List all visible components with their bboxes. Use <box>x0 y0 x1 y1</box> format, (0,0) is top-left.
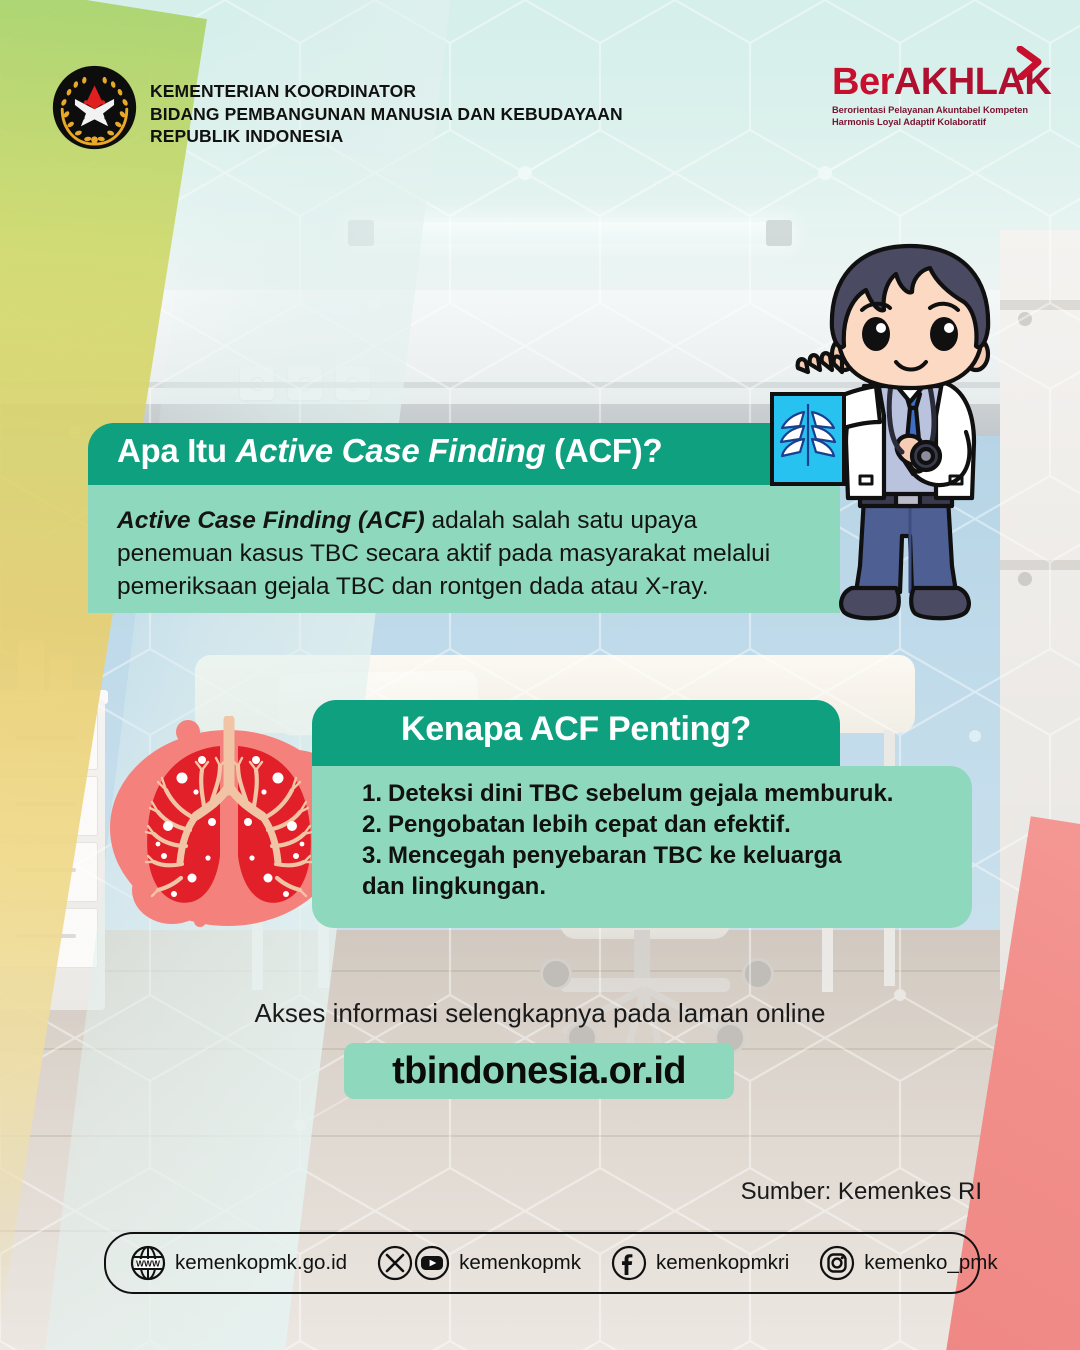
list-item: 3.Mencegah penyebaran TBC ke keluarga da… <box>362 840 893 902</box>
footer-label-website: kemenkopmk.go.id <box>175 1251 347 1275</box>
facebook-icon <box>611 1245 647 1281</box>
list-number: 2. <box>362 809 388 840</box>
footer-item-facebook[interactable]: kemenkopmkri <box>611 1245 789 1281</box>
berakhlak-tagline-1: Berorientasi Pelayanan Akuntabel Kompete… <box>832 105 1032 117</box>
footer-label-social: kemenkopmk <box>459 1251 581 1275</box>
acf-text-bold: Active Case Finding (ACF) <box>117 507 425 534</box>
ministry-line-2: BIDANG PEMBANGUNAN MANUSIA DAN KEBUDAYAA… <box>150 103 623 126</box>
list-text: Pengobatan lebih cepat dan efektif. <box>388 811 791 838</box>
list-item: 2.Pengobatan lebih cepat dan efektif. <box>362 809 893 840</box>
ministry-title: KEMENTERIAN KOORDINATOR BIDANG PEMBANGUN… <box>150 80 623 148</box>
acf-title-prefix: Apa Itu <box>117 432 236 469</box>
chevron-right-icon <box>1016 46 1046 80</box>
footer-item-social-x-youtube[interactable]: kemenkopmk <box>377 1245 581 1281</box>
kemenko-pmk-logo <box>52 65 137 150</box>
acf-card-body: Active Case Finding (ACF) adalah salah s… <box>88 485 840 613</box>
footer-label-instagram: kemenko_pmk <box>864 1251 997 1275</box>
acf-card-header: Apa Itu Active Case Finding (ACF)? <box>88 423 840 485</box>
chest-xray-card-icon <box>770 392 846 486</box>
list-item: 1.Deteksi dini TBC sebelum gejala membur… <box>362 778 893 809</box>
berakhlak-prefix: Ber <box>832 61 894 103</box>
cta-lead-text: Akses informasi selengkapnya pada laman … <box>0 998 1080 1029</box>
acf-card-text: Active Case Finding (ACF) adalah salah s… <box>117 504 817 603</box>
acf-card-title: Apa Itu Active Case Finding (ACF)? <box>117 432 662 470</box>
acf-title-italic: Active Case Finding <box>236 432 546 469</box>
list-number: 1. <box>362 778 388 809</box>
svg-text:WWW: WWW <box>136 1258 161 1268</box>
importance-card-title: Kenapa ACF Penting? <box>312 710 840 749</box>
footer-label-facebook: kemenkopmkri <box>656 1251 789 1275</box>
list-text: Deteksi dini TBC sebelum gejala memburuk… <box>388 780 893 807</box>
website-highlight-box[interactable]: tbindonesia.or.id <box>344 1043 734 1099</box>
berakhlak-tagline-2: Harmonis Loyal Adaptif Kolaboratif <box>832 117 1032 129</box>
list-text: Mencegah penyebaran TBC ke keluarga dan … <box>362 842 842 900</box>
source-credit: Sumber: Kemenkes RI <box>741 1178 982 1206</box>
importance-list: 1.Deteksi dini TBC sebelum gejala membur… <box>362 778 893 902</box>
footer-item-instagram[interactable]: kemenko_pmk <box>819 1245 997 1281</box>
berakhlak-logo: BerAKHLAK Berorientasi Pelayanan Akuntab… <box>832 62 1032 128</box>
instagram-icon <box>819 1245 855 1281</box>
footer-item-website[interactable]: WWW kemenkopmk.go.id <box>130 1245 347 1281</box>
infographic-poster: KEMENTERIAN KOORDINATOR BIDANG PEMBANGUN… <box>0 0 1080 1350</box>
list-number: 3. <box>362 840 388 871</box>
website-url[interactable]: tbindonesia.or.id <box>344 1050 734 1093</box>
berakhlak-wordmark: BerAKHLAK <box>832 62 1032 102</box>
social-footer-bar: WWW kemenkopmk.go.id kemenkopmk kemenkop… <box>104 1232 980 1294</box>
importance-card-header: Kenapa ACF Penting? <box>312 700 840 766</box>
ministry-line-1: KEMENTERIAN KOORDINATOR <box>150 80 623 103</box>
importance-card-body: 1.Deteksi dini TBC sebelum gejala membur… <box>312 766 972 928</box>
x-twitter-icon <box>377 1245 413 1281</box>
youtube-icon <box>414 1245 450 1281</box>
ministry-line-3: REPUBLIK INDONESIA <box>150 125 623 148</box>
globe-www-icon: WWW <box>130 1245 166 1281</box>
acf-title-suffix: (ACF)? <box>545 432 662 469</box>
